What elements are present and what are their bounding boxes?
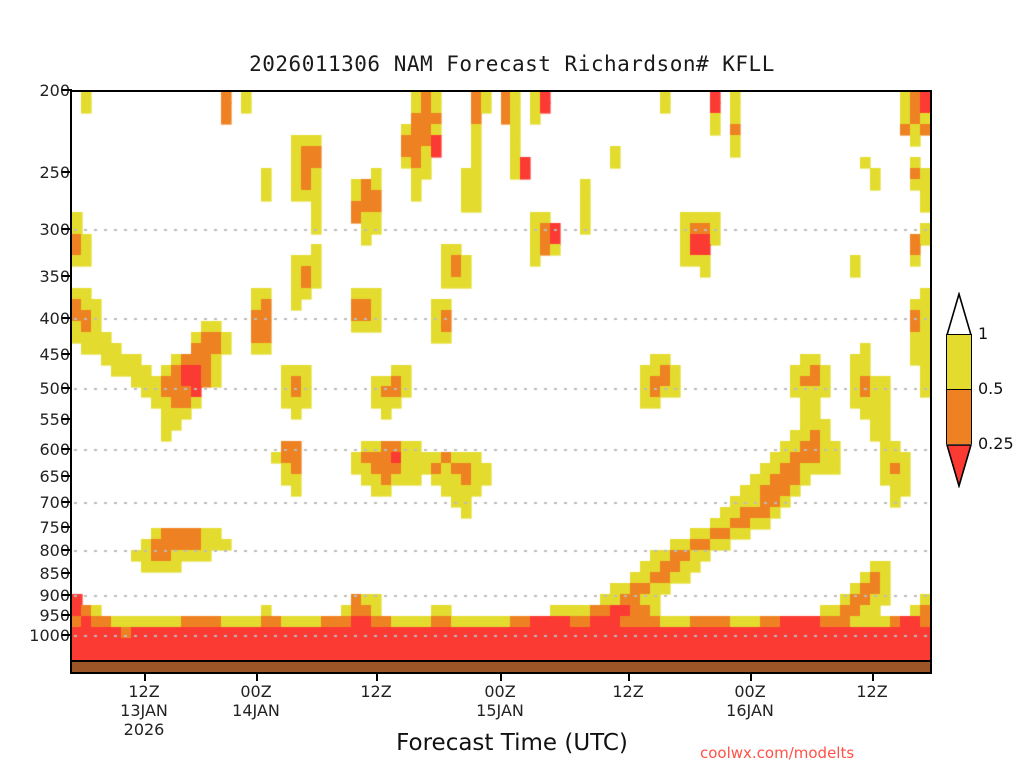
colorbar-tick-0-5: 0.5 [978, 379, 1003, 398]
richardson-number-colorbar: 10.50.25 [938, 292, 1024, 482]
colorbar-body [946, 334, 972, 444]
x-tick-line: 00Z [196, 682, 316, 701]
colorbar-down-arrow-icon [946, 444, 972, 488]
x-tick-line: 15JAN [440, 701, 560, 720]
x-tick-line: 12Z [84, 682, 204, 701]
chart-title: 2026011306 NAM Forecast Richardson# KFLL [0, 52, 1024, 76]
colorbar-arrow-top [946, 292, 972, 336]
x-tick-line: 14JAN [196, 701, 316, 720]
watermark-link[interactable]: coolwx.com/modelts [700, 744, 1020, 762]
x-tick-label-5: 00Z16JAN [690, 682, 810, 720]
x-tick-mark-2 [376, 674, 378, 681]
colorbar-tick-0-25: 0.25 [978, 434, 1014, 453]
y-axis: 2002503003504004505005506006507007508008… [0, 0, 70, 768]
x-tick-label-1: 00Z14JAN [196, 682, 316, 720]
x-tick-line: 12Z [316, 682, 436, 701]
x-tick-label-4: 12Z [568, 682, 688, 701]
x-tick-line: 13JAN [84, 701, 204, 720]
colorbar-segment-1-to-0.5 [947, 335, 971, 389]
x-tick-mark-3 [500, 674, 502, 681]
richardson-heatmap [72, 92, 930, 660]
x-tick-line: 00Z [440, 682, 560, 701]
x-tick-mark-4 [628, 674, 630, 681]
x-tick-line: 16JAN [690, 701, 810, 720]
x-tick-line: 12Z [812, 682, 932, 701]
x-tick-mark-5 [750, 674, 752, 681]
chart-page: 2026011306 NAM Forecast Richardson# KFLL… [0, 0, 1024, 768]
colorbar-arrow-bottom [946, 444, 972, 488]
x-tick-label-3: 00Z15JAN [440, 682, 560, 720]
x-tick-mark-1 [256, 674, 258, 681]
plot-area [70, 90, 932, 662]
x-tick-label-6: 12Z [812, 682, 932, 701]
x-tick-line: 00Z [690, 682, 810, 701]
x-tick-label-2: 12Z [316, 682, 436, 701]
colorbar-up-arrow-icon [946, 292, 972, 336]
x-tick-line: 12Z [568, 682, 688, 701]
x-tick-mark-6 [872, 674, 874, 681]
colorbar-segment-0.5-to-0.25 [947, 389, 971, 444]
colorbar-tick-1: 1 [978, 324, 988, 343]
x-tick-mark-0 [144, 674, 146, 681]
